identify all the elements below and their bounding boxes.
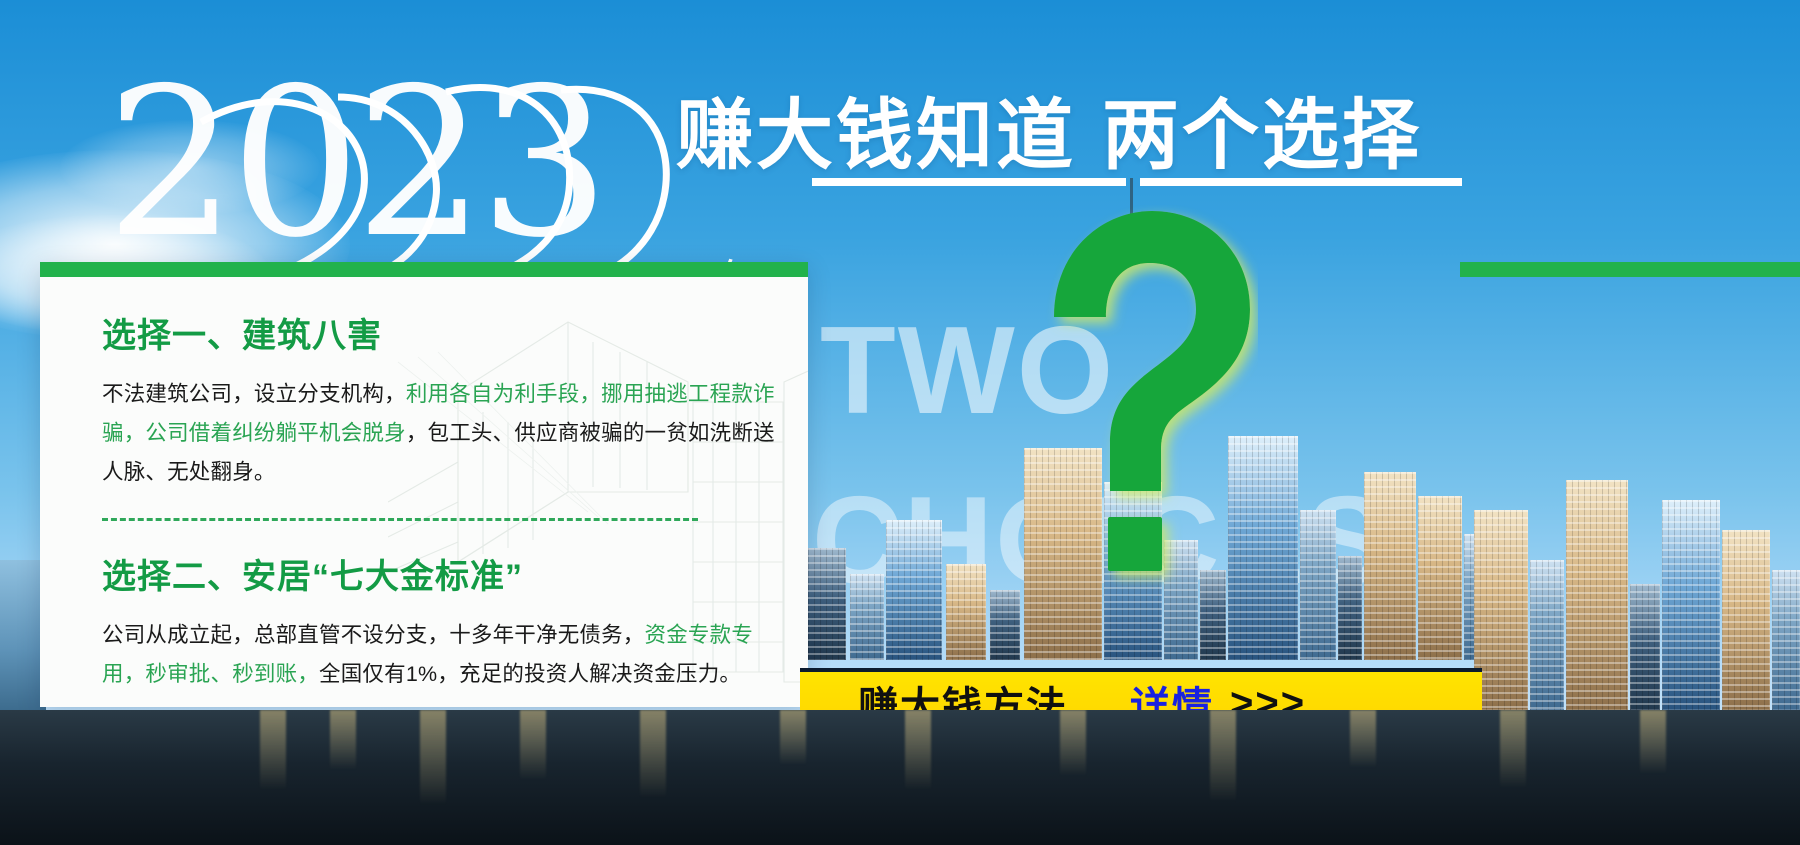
right-accent-bar: [1460, 262, 1800, 277]
poster-canvas: 2023 年 赚大钱知道两个选择 TWO CHOICES: [0, 0, 1800, 845]
choice-two-seg-0: 公司从成立起，总部直管不设分支，十多年干净无债务，: [102, 623, 645, 647]
bottom-reflection-band: [0, 710, 1800, 845]
choice-two-title: 选择二、安居“七大金标准”: [102, 549, 792, 598]
question-mark-icon: [1028, 205, 1258, 595]
choice-two-block: 选择二、安居“七大金标准” 公司从成立起，总部直管不设分支，十多年干净无债务，资…: [102, 549, 792, 694]
headline-part-1: 赚大钱知道: [676, 93, 1076, 179]
page-title: 赚大钱知道两个选择: [676, 74, 1422, 185]
headline-rule-right: [1140, 178, 1462, 186]
headline-rule-left: [812, 178, 1126, 186]
choice-two-seg-2: 全国仅有1%，充足的投资人解决资金压力。: [319, 662, 741, 686]
info-card: 选择一、建筑八害 不法建筑公司，设立分支机构，利用各自为利手段，挪用抽逃工程款诈…: [40, 262, 808, 707]
choice-two-body: 公司从成立起，总部直管不设分支，十多年干净无债务，资金专款专用，秒审批、秒到账，…: [102, 616, 784, 694]
right-skyline-image: [1470, 410, 1800, 710]
section-divider: [102, 518, 698, 521]
choice-one-title: 选择一、建筑八害: [102, 308, 792, 357]
headline-part-2: 两个选择: [1102, 93, 1422, 179]
card-content: 选择一、建筑八害 不法建筑公司，设立分支机构，利用各自为利手段，挪用抽逃工程款诈…: [102, 308, 792, 694]
choice-one-body: 不法建筑公司，设立分支机构，利用各自为利手段，挪用抽逃工程款诈骗，公司借着纠纷躺…: [102, 375, 784, 492]
choice-one-seg-0: 不法建筑公司，设立分支机构，: [102, 382, 406, 406]
year-block: 2023 年: [106, 62, 726, 272]
year-arc-decoration: [106, 62, 726, 277]
